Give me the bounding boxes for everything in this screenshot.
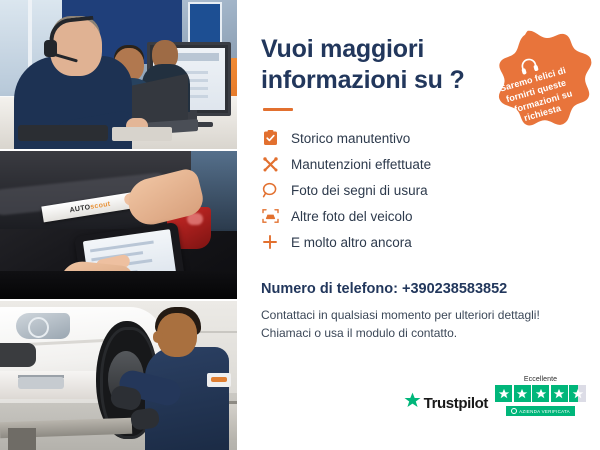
phone-line: Numero di telefono: +390238583852 — [261, 281, 578, 297]
feature-label: Foto dei segni di usura — [291, 183, 428, 198]
desk-document — [112, 127, 172, 141]
trustpilot-brand: Trustpilot — [424, 395, 488, 412]
vehicle-lift-post — [8, 428, 36, 450]
badge-text: Saremo felici di fornirti queste informa… — [487, 62, 588, 132]
headline-line-2: informazioni su ? — [261, 66, 465, 94]
headline-line-1: Vuoi maggiori — [261, 35, 424, 63]
car-grille — [0, 343, 36, 367]
foreground-keyboard — [18, 125, 108, 141]
mechanic-wheel-service-photo — [0, 299, 237, 450]
call-centre-agents-photo — [0, 0, 237, 149]
trustpilot-logo: Trustpilot — [404, 392, 488, 416]
car-foglight-vent — [18, 377, 64, 389]
promo-card: AUTOscout — [0, 0, 600, 450]
mechanic-ear — [153, 331, 163, 343]
photo-column: AUTOscout — [0, 0, 237, 450]
magnifier-icon — [261, 181, 279, 199]
mechanic-head — [157, 313, 197, 357]
clipboard-check-icon — [261, 129, 279, 147]
trustpilot-star-icon — [404, 392, 421, 414]
verified-business-badge: AZIENDA VERIFICATA — [506, 406, 575, 416]
tablet-screen-row — [90, 240, 154, 252]
plus-icon — [261, 233, 279, 251]
phone-number[interactable]: +390238583852 — [402, 281, 507, 297]
phone-label: Numero di telefono: — [261, 281, 398, 297]
verified-check-icon — [511, 408, 517, 414]
contact-copy-line-2: Chiamaci o usa il modulo di contatto. — [261, 324, 578, 342]
feature-label: Manutenzioni effettuate — [291, 157, 431, 172]
trustpilot-star-rating — [495, 385, 586, 402]
car-inspection-tablet-photo: AUTOscout — [0, 149, 237, 300]
feature-label: E molto altro ancora — [291, 235, 412, 250]
trustpilot-widget[interactable]: Trustpilot Eccellente — [404, 376, 586, 416]
rating-star-tile — [495, 385, 512, 402]
uniform-logo-patch — [207, 373, 231, 387]
contact-copy-line-1: Contattaci in qualsiasi momento per ulte… — [261, 306, 578, 324]
rating-star-tile — [532, 385, 549, 402]
rating-star-tile-partial — [569, 385, 586, 402]
feature-label: Altre foto del veicolo — [291, 209, 413, 224]
rating-star-tile — [551, 385, 568, 402]
feature-item-molto-altro: E molto altro ancora — [261, 229, 578, 255]
trustpilot-rating-label: Eccellente — [524, 376, 557, 383]
feature-label: Storico manutentivo — [291, 131, 410, 146]
page-title: Vuoi maggiori informazioni su ? — [261, 34, 476, 95]
car-scan-icon — [261, 207, 279, 225]
trustpilot-rating-block: Eccellente — [495, 376, 586, 416]
title-underline — [263, 108, 293, 111]
rating-star-tile — [514, 385, 531, 402]
feature-item-altre-foto-veicolo: Altre foto del veicolo — [261, 203, 578, 229]
under-car-shadow — [0, 271, 237, 299]
callout-badge: Saremo felici di fornirti queste informa… — [469, 21, 600, 153]
feature-item-manutenzioni-effettuate: Manutenzioni effettuate — [261, 151, 578, 177]
crossed-tools-icon — [261, 155, 279, 173]
content-panel: Vuoi maggiori informazioni su ? Storico … — [237, 0, 600, 450]
verified-label: AZIENDA VERIFICATA — [519, 409, 570, 414]
sticker-text: AUTOscout — [69, 200, 111, 213]
contact-copy: Contattaci in qualsiasi momento per ulte… — [261, 306, 578, 342]
feature-item-foto-segni-usura: Foto dei segni di usura — [261, 177, 578, 203]
